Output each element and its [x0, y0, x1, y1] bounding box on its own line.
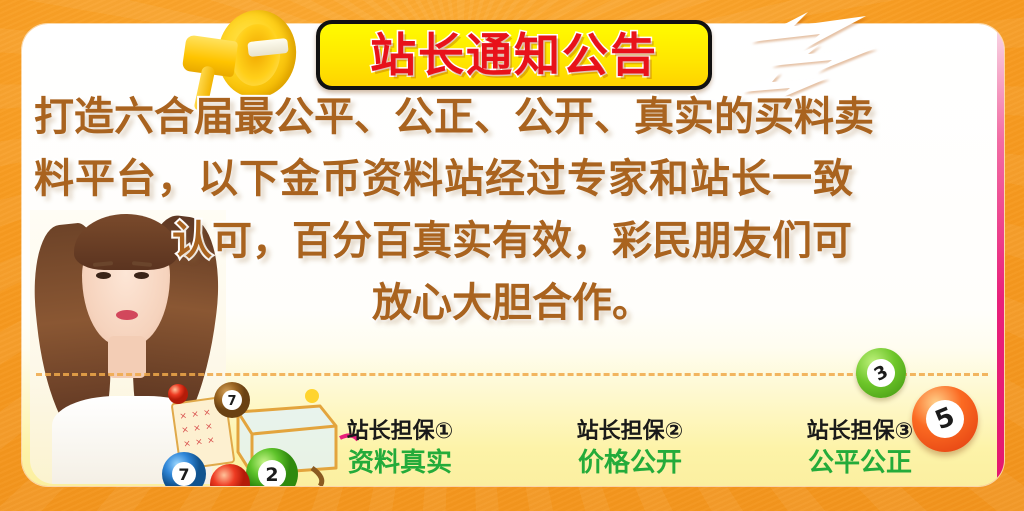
guarantee-sub-1: 资料真实: [300, 446, 500, 480]
svg-text:×: ×: [191, 409, 200, 420]
guarantee-item-2: 站长担保② 价格公开: [530, 418, 730, 490]
guarantee-item-1: 站长担保① 资料真实: [300, 418, 500, 490]
svg-text:×: ×: [207, 435, 216, 446]
svg-text:×: ×: [205, 422, 214, 433]
section-divider: [36, 373, 988, 376]
message-line-2: 料平台，以下金币资料站经过专家和站长一致: [24, 148, 1000, 210]
svg-text:×: ×: [181, 425, 190, 436]
svg-text:7: 7: [227, 394, 236, 409]
svg-text:7: 7: [178, 465, 189, 484]
svg-text:×: ×: [195, 437, 204, 448]
lottery-ball-red: 5: [912, 386, 978, 452]
message-line-3: 认可，百分百真实有效，彩民朋友们可: [24, 210, 1000, 272]
svg-text:×: ×: [193, 423, 202, 434]
guarantee-title-1: 站长担保①: [300, 418, 500, 446]
svg-text:×: ×: [203, 408, 212, 419]
lottery-ball-green: 3: [856, 348, 906, 398]
guarantee-sub-3: 公平公正: [760, 446, 960, 480]
svg-text:×: ×: [183, 439, 192, 450]
lottery-ball-red-number: 5: [920, 394, 969, 443]
svg-text:2: 2: [265, 464, 278, 486]
notice-banner: 站长通知公告 打造六合届最公平、公正、公开、真实的买料卖 料平台，以下金币资料站…: [0, 0, 1024, 511]
guarantee-sub-2: 价格公开: [530, 446, 730, 480]
lottery-ball-green-number: 3: [862, 354, 900, 392]
guarantee-list: 站长担保① 资料真实 站长担保② 价格公开 站长担保③ 公平公正: [300, 418, 960, 490]
message-line-1: 打造六合届最公平、公正、公开、真实的买料卖: [24, 86, 1000, 148]
notice-message: 打造六合届最公平、公正、公开、真实的买料卖 料平台，以下金币资料站经过专家和站长…: [0, 86, 1024, 334]
message-line-4: 放心大胆合作。: [24, 272, 1000, 334]
svg-text:×: ×: [179, 411, 188, 422]
title-plate: 站长通知公告: [316, 20, 712, 90]
page-title: 站长通知公告: [370, 32, 658, 78]
guarantee-title-2: 站长担保②: [530, 418, 730, 446]
